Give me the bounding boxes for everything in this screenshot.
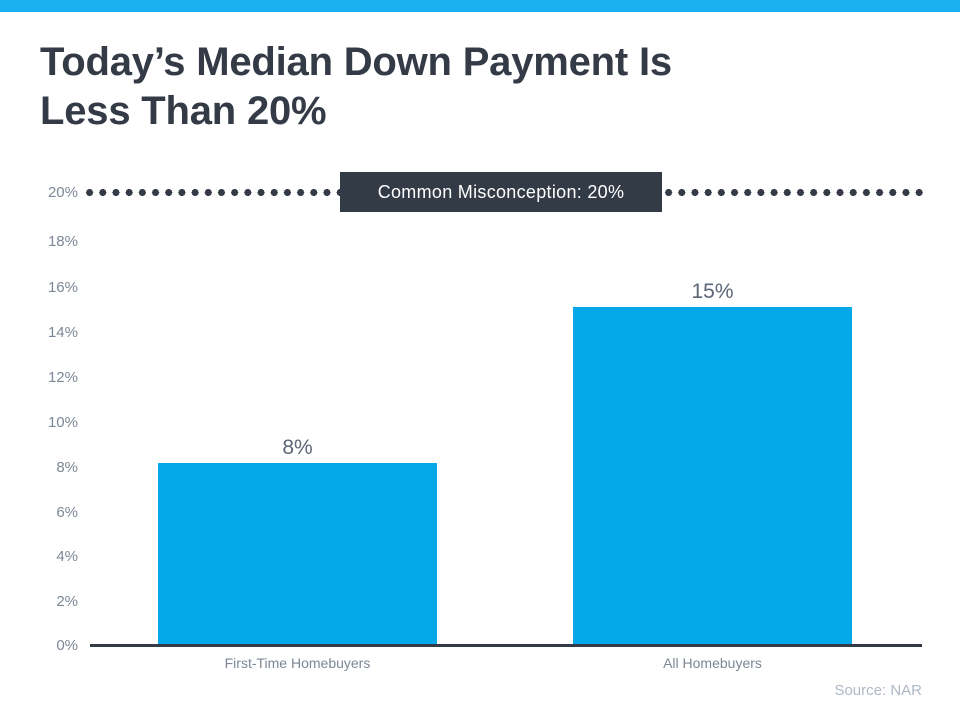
source-attribution: Source: NAR [700,683,922,698]
x-axis-category-label: First-Time Homebuyers [158,656,437,670]
y-axis-tick-label: 18% [32,234,78,249]
misconception-callout-badge: Common Misconception: 20% [340,172,662,212]
y-axis-tick-label: 6% [32,505,78,520]
y-axis-tick-label: 8% [32,460,78,475]
misconception-dotted-line-left [83,189,341,196]
y-axis-tick-label: 20% [32,185,78,200]
misconception-dotted-line-right [662,189,926,196]
bar-chart: 20% 18% 16% 14% 12% 10% 8% 6% 4% 2% 0% C… [0,0,960,720]
x-axis-baseline [90,644,922,647]
y-axis-tick-label: 10% [32,415,78,430]
y-axis: 20% 18% 16% 14% 12% 10% 8% 6% 4% 2% 0% [32,0,78,720]
bar-first-time-homebuyers[interactable] [158,463,437,645]
y-axis-tick-label: 2% [32,594,78,609]
y-axis-tick-label: 14% [32,325,78,340]
y-axis-tick-label: 0% [32,638,78,653]
y-axis-tick-label: 12% [32,370,78,385]
y-axis-tick-label: 4% [32,549,78,564]
bar-value-label: 8% [158,437,437,458]
bar-all-homebuyers[interactable] [573,307,852,645]
bar-value-label: 15% [573,281,852,302]
x-axis-category-label: All Homebuyers [573,656,852,670]
y-axis-tick-label: 16% [32,280,78,295]
slide-canvas: Today’s Median Down Payment Is Less Than… [0,0,960,720]
